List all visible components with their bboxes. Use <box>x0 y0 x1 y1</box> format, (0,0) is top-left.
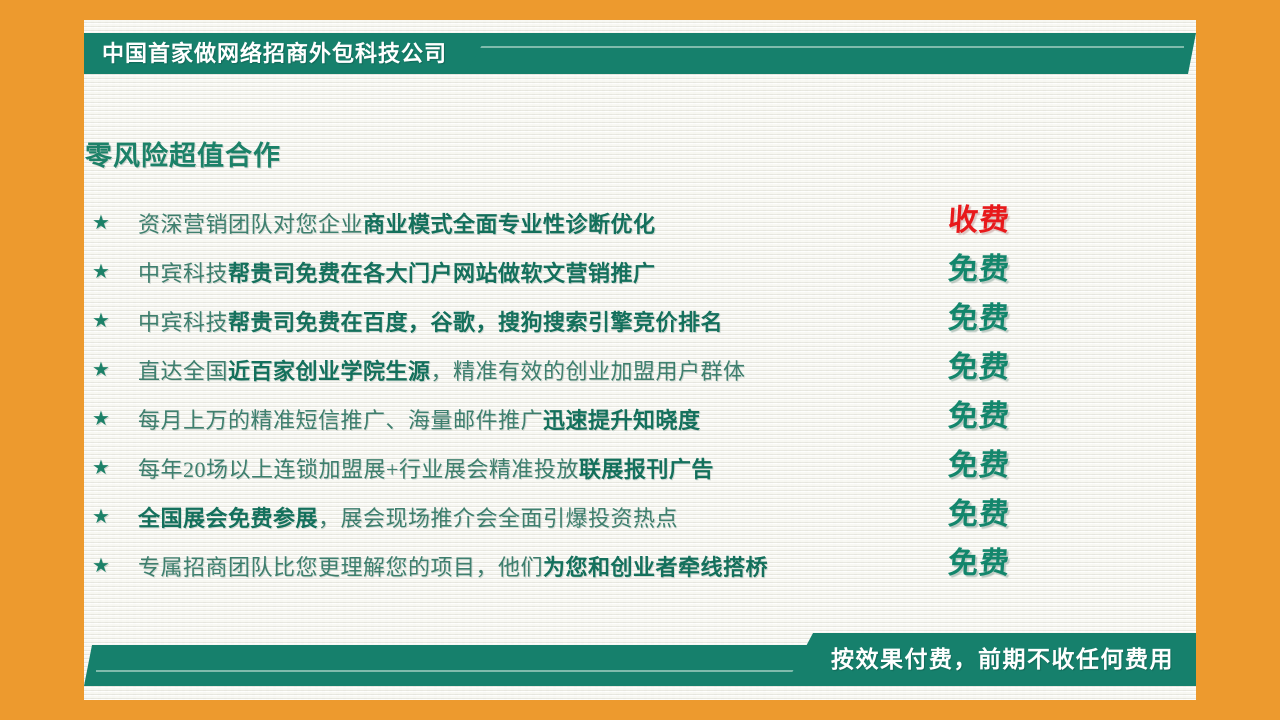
price-label-row: 免费 <box>948 343 1058 392</box>
text-plain-tail: ，精准有效的创业加盟用户群体 <box>431 359 746 384</box>
price-label-row: 收费 <box>948 196 1058 245</box>
star-icon: ★ <box>92 556 138 576</box>
list-item: ★中宾科技帮贵司免费在百度，谷歌，搜狗搜索引擎竞价排名 <box>92 296 1052 345</box>
list-item: ★中宾科技帮贵司免费在各大门户网站做软文营销推广 <box>92 247 1052 296</box>
list-item-text: 每月上万的精准短信推广、海量邮件推广迅速提升知晓度 <box>138 403 701 435</box>
list-item-text: 中宾科技帮贵司免费在百度，谷歌，搜狗搜索引擎竞价排名 <box>138 305 723 337</box>
list-item: ★资深营销团队对您企业商业模式全面专业性诊断优化 <box>92 198 1052 247</box>
price-label-column: 收费免费免费免费免费免费免费免费 <box>948 196 1058 588</box>
status-badge: 收费 <box>947 206 1011 236</box>
list-item-text: 每年20场以上连锁加盟展+行业展会精准投放联展报刊广告 <box>138 452 714 484</box>
list-item: ★每月上万的精准短信推广、海量邮件推广迅速提升知晓度 <box>92 394 1052 443</box>
slide-root: 中国首家做网络招商外包科技公司 零风险超值合作 ★资深营销团队对您企业商业模式全… <box>0 0 1280 720</box>
text-plain-tail: ，展会现场推介会全面引爆投资热点 <box>318 506 678 531</box>
page-title: 零风险超值合作 <box>85 134 281 173</box>
star-icon: ★ <box>92 213 138 233</box>
list-item-text: 全国展会免费参展，展会现场推介会全面引爆投资热点 <box>138 501 678 533</box>
benefits-list: ★资深营销团队对您企业商业模式全面专业性诊断优化★中宾科技帮贵司免费在各大门户网… <box>92 198 1052 590</box>
header-band: 中国首家做网络招商外包科技公司 <box>84 33 1196 74</box>
status-badge: 免费 <box>947 451 1011 481</box>
star-icon: ★ <box>92 458 138 478</box>
footer-tagline: 按效果付费，前期不收任何费用 <box>831 633 1174 686</box>
list-item-text: 专属招商团队比您更理解您的项目，他们为您和创业者牵线搭桥 <box>138 550 768 582</box>
price-label-row: 免费 <box>948 539 1058 588</box>
header-title-block: 中国首家做网络招商外包科技公司 <box>84 33 489 74</box>
list-item-text: 资深营销团队对您企业商业模式全面专业性诊断优化 <box>138 207 656 239</box>
star-icon: ★ <box>92 409 138 429</box>
star-icon: ★ <box>92 311 138 331</box>
list-item: ★每年20场以上连锁加盟展+行业展会精准投放联展报刊广告 <box>92 443 1052 492</box>
star-icon: ★ <box>92 262 138 282</box>
status-badge: 免费 <box>947 304 1011 334</box>
footer-tagline-block: 按效果付费，前期不收任何费用 <box>785 633 1196 686</box>
footer-band: 按效果付费，前期不收任何费用 <box>84 645 1196 686</box>
text-plain: 每年20场以上连锁加盟展+行业展会精准投放 <box>138 457 579 482</box>
list-item: ★直达全国近百家创业学院生源，精准有效的创业加盟用户群体 <box>92 345 1052 394</box>
star-icon: ★ <box>92 507 138 527</box>
text-plain: 每月上万的精准短信推广、海量邮件推广 <box>138 408 543 433</box>
footer-divider-line <box>96 670 826 672</box>
text-emphasis: 为您和创业者牵线搭桥 <box>543 555 768 580</box>
text-emphasis: 近百家创业学院生源 <box>228 359 431 384</box>
text-emphasis: 商业模式全面专业性诊断优化 <box>363 212 656 237</box>
text-plain: 中宾科技 <box>138 261 228 286</box>
text-plain: 资深营销团队对您企业 <box>138 212 363 237</box>
list-item-text: 中宾科技帮贵司免费在各大门户网站做软文营销推广 <box>138 256 656 288</box>
text-plain: 直达全国 <box>138 359 228 384</box>
price-label-row: 免费 <box>948 245 1058 294</box>
list-item-text: 直达全国近百家创业学院生源，精准有效的创业加盟用户群体 <box>138 354 746 386</box>
list-item: ★全国展会免费参展，展会现场推介会全面引爆投资热点 <box>92 492 1052 541</box>
text-plain: 专属招商团队比您更理解您的项目，他们 <box>138 555 543 580</box>
text-emphasis: 迅速提升知晓度 <box>543 408 701 433</box>
list-item: ★专属招商团队比您更理解您的项目，他们为您和创业者牵线搭桥 <box>92 541 1052 590</box>
text-emphasis: 帮贵司免费在百度，谷歌，搜狗搜索引擎竞价排名 <box>228 310 723 335</box>
price-label-row: 免费 <box>948 294 1058 343</box>
price-label-row: 免费 <box>948 441 1058 490</box>
status-badge: 免费 <box>947 255 1011 285</box>
price-label-row: 免费 <box>948 392 1058 441</box>
star-icon: ★ <box>92 360 138 380</box>
status-badge: 免费 <box>947 353 1011 383</box>
status-badge: 免费 <box>947 402 1011 432</box>
status-badge: 免费 <box>947 500 1011 530</box>
text-emphasis: 帮贵司免费在各大门户网站做软文营销推广 <box>228 261 656 286</box>
text-emphasis: 联展报刊广告 <box>579 457 714 482</box>
text-plain: 中宾科技 <box>138 310 228 335</box>
header-title: 中国首家做网络招商外包科技公司 <box>102 33 447 74</box>
status-badge: 免费 <box>947 549 1011 579</box>
price-label-row: 免费 <box>948 490 1058 539</box>
text-emphasis: 全国展会免费参展 <box>138 506 318 531</box>
